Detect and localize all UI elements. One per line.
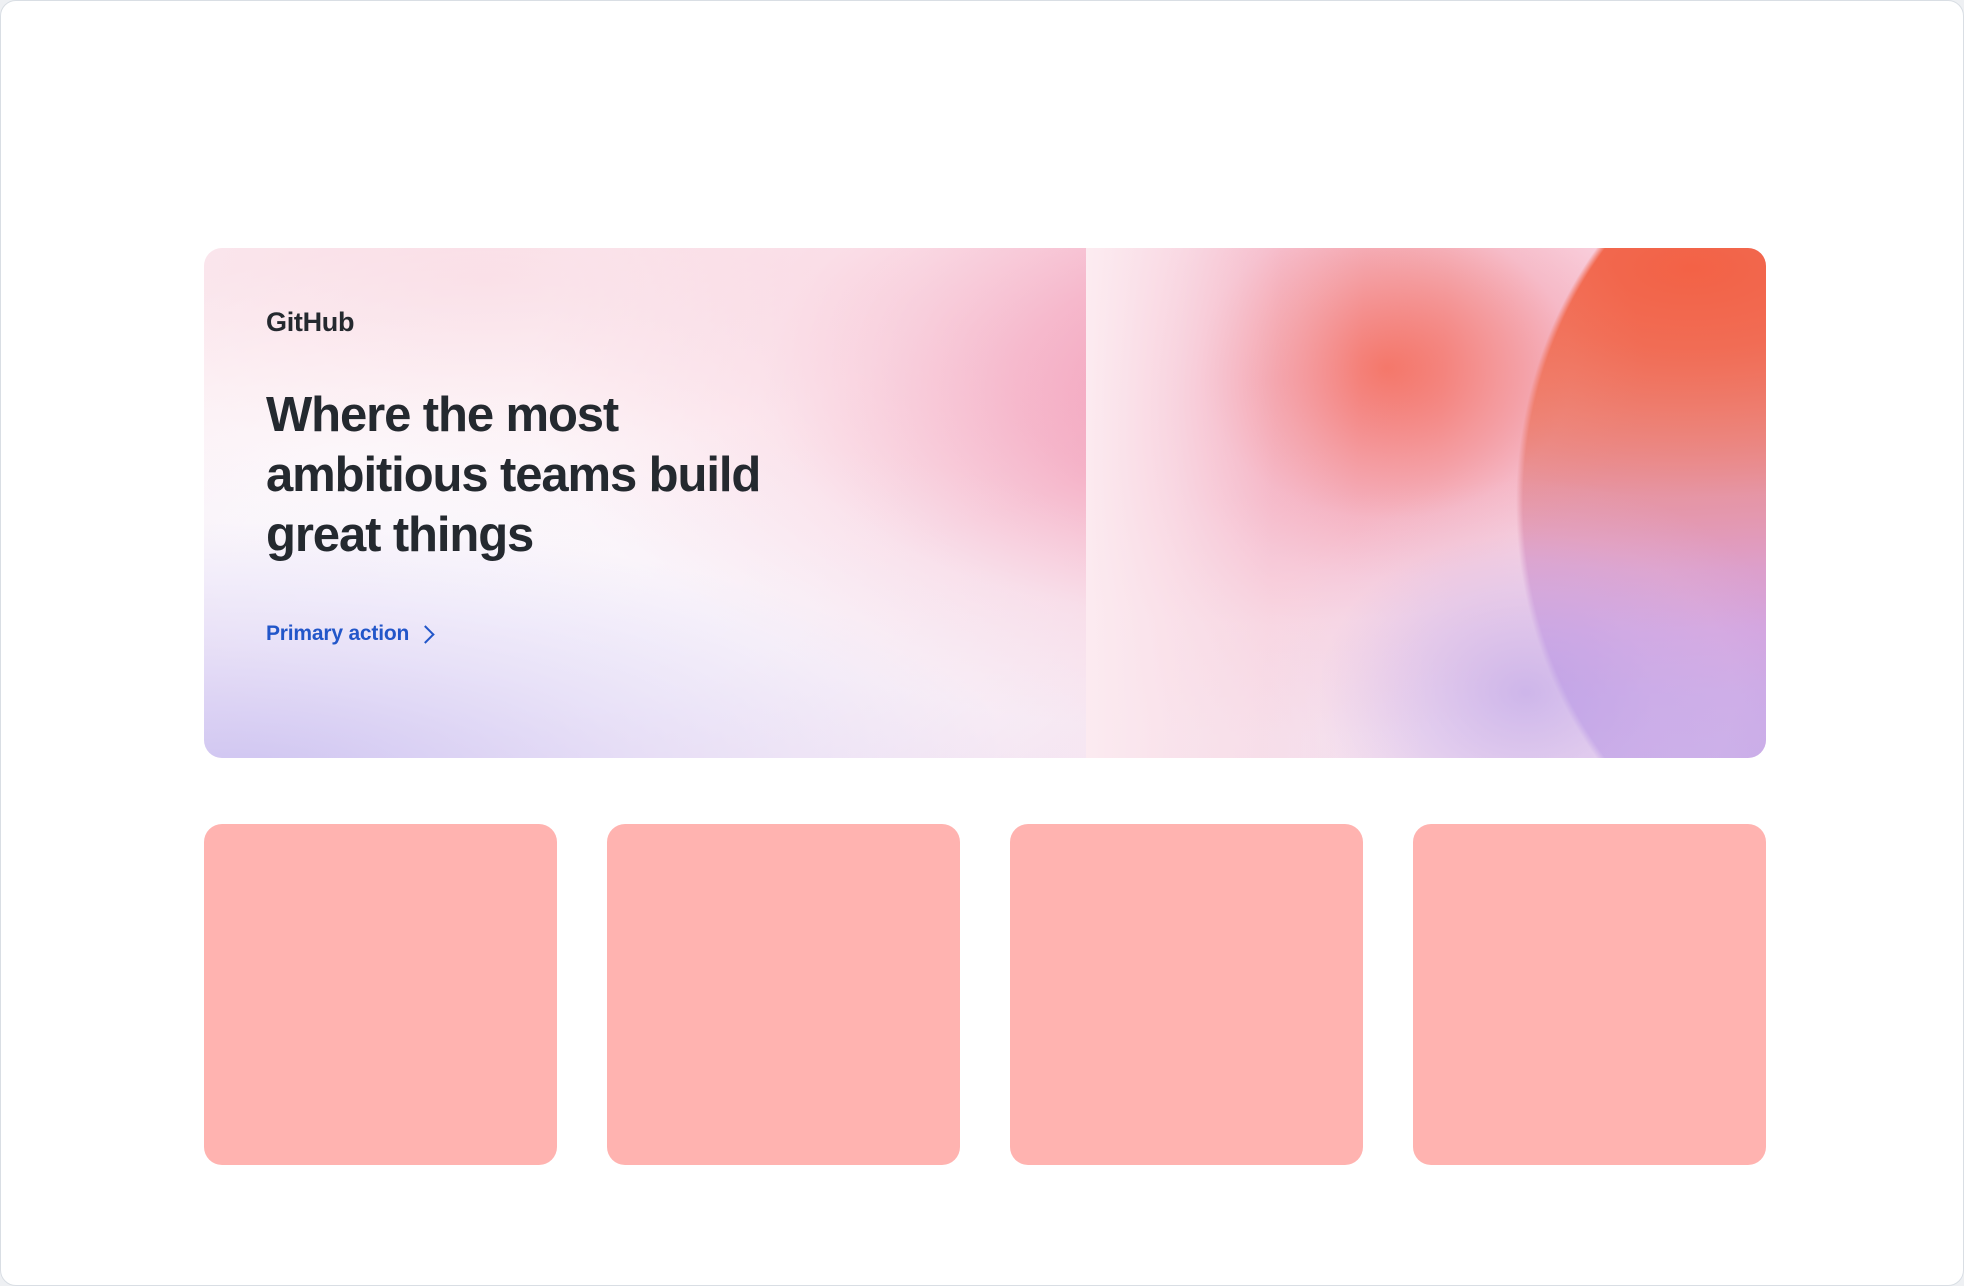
- hero-banner: GitHub Where the most ambitious teams bu…: [204, 248, 1766, 758]
- primary-action-link[interactable]: Primary action: [266, 622, 432, 646]
- page-frame: GitHub Where the most ambitious teams bu…: [0, 0, 1964, 1286]
- placeholder-card-1[interactable]: [204, 824, 557, 1165]
- placeholder-card-4[interactable]: [1413, 824, 1766, 1165]
- hero-heading: Where the most ambitious teams build gre…: [266, 386, 826, 565]
- placeholder-card-row: [204, 824, 1766, 1165]
- hero-content: GitHub Where the most ambitious teams bu…: [266, 306, 1026, 646]
- chevron-right-icon: [416, 625, 434, 643]
- placeholder-card-3[interactable]: [1010, 824, 1363, 1165]
- brand-eyebrow: GitHub: [266, 306, 1026, 338]
- primary-action-label: Primary action: [266, 622, 409, 646]
- placeholder-card-2[interactable]: [607, 824, 960, 1165]
- hero-gradient-ribbon: [1146, 248, 1766, 758]
